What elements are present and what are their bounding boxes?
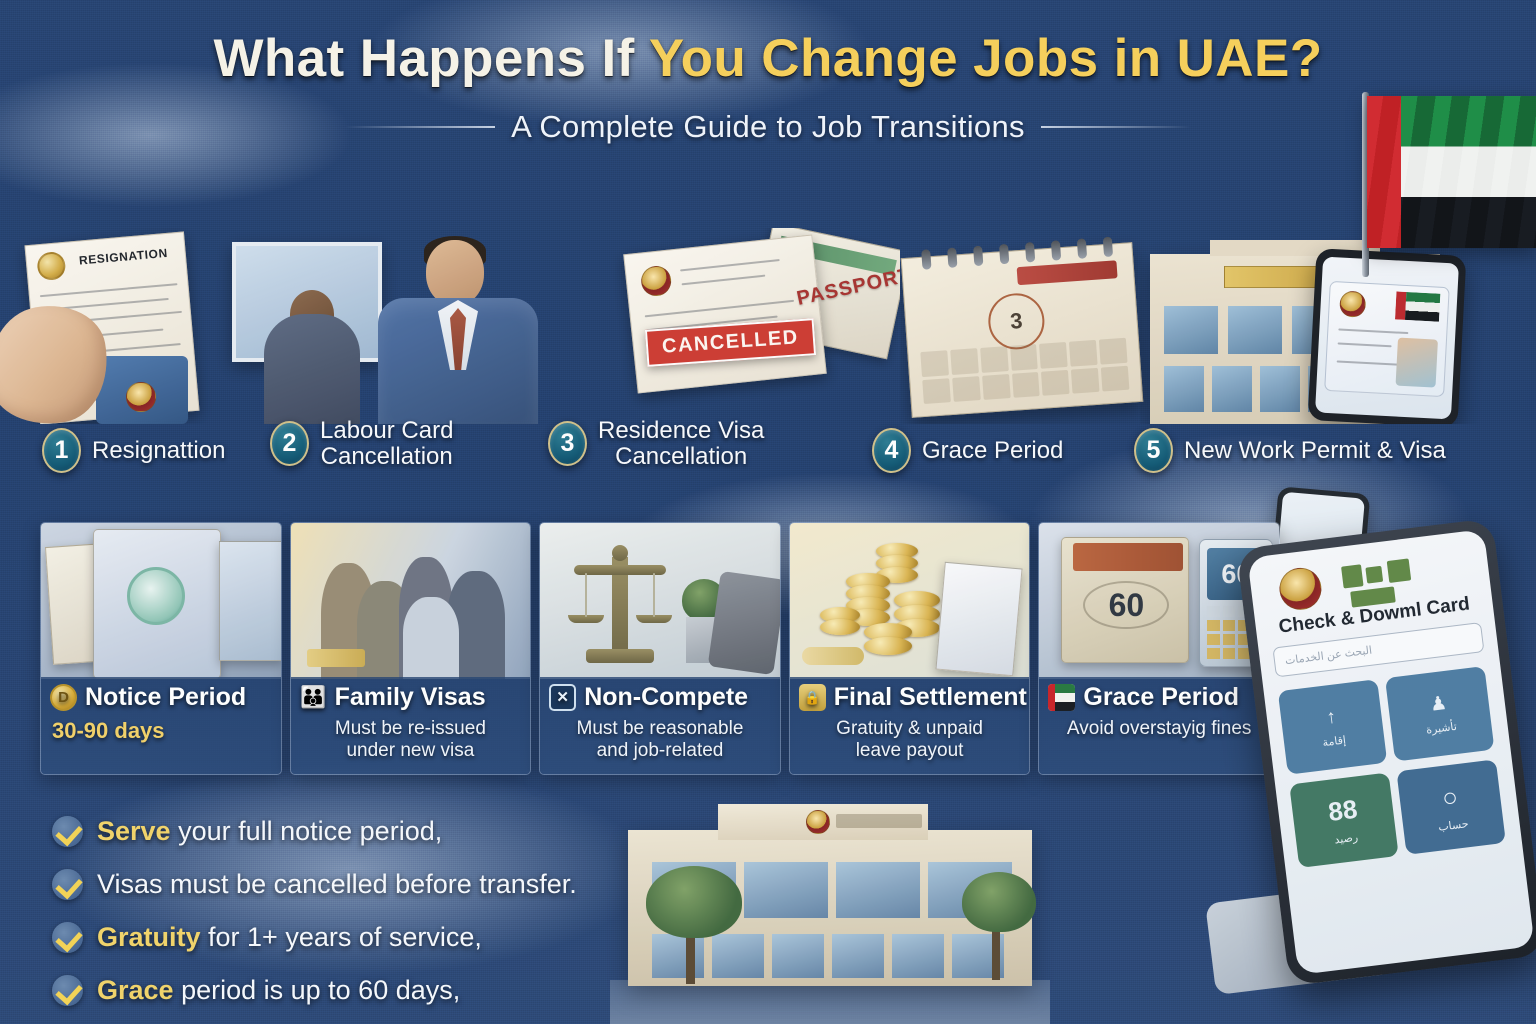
step-number-badge: 4 <box>872 428 911 473</box>
labour-card-document <box>623 234 827 393</box>
art-label-chip <box>307 649 365 667</box>
flag-icon <box>1048 684 1075 711</box>
card-caption: 🔒 Final Settlement Gratuity & unpaid lea… <box>790 677 1030 774</box>
family-icon: 👪 <box>300 684 327 711</box>
uae-emblem-icon <box>1339 290 1366 317</box>
step-label: New Work Permit & Visa <box>1184 438 1446 464</box>
card-final-settlement[interactable]: 🔒 Final Settlement Gratuity & unpaid lea… <box>789 522 1031 775</box>
phone-screen[interactable]: Check & Dowml Card البحث عن الخدمات ↑ إق… <box>1247 529 1534 975</box>
check-icon <box>52 869 83 900</box>
key-takeaways-list: Serve your full notice period, Visas mus… <box>52 816 577 1024</box>
step-number-badge: 2 <box>270 421 309 466</box>
ground <box>610 980 1050 1024</box>
step-2-labour-card-cancellation[interactable]: 2 Labour Card Cancellation <box>270 418 453 470</box>
card-art-coins <box>790 523 1030 679</box>
emblem-circle-icon <box>127 567 185 625</box>
phone-body: Check & Dowml Card البحث عن الخدمات ↑ إق… <box>1236 518 1536 986</box>
tree <box>646 866 742 938</box>
card-non-compete[interactable]: ✕ Non-Compete Must be reasonable and job… <box>539 522 781 775</box>
lock-icon: 🔒 <box>799 684 826 711</box>
checklist-item: Serve your full notice period, <box>52 816 577 847</box>
checklist-item: Grace period is up to 60 days, <box>52 975 577 1006</box>
tile-label: إقامة <box>1322 733 1347 749</box>
page-header: What Happens If You Change Jobs in UAE? … <box>0 28 1536 145</box>
scene-cancelled-documents: PASSPORT CANCELLED <box>600 228 900 424</box>
step-number-badge: 5 <box>1134 428 1173 473</box>
checklist-text: Serve your full notice period, <box>97 816 442 847</box>
step-label: Residence Visa Cancellation <box>598 418 764 470</box>
tile-glyph: 88 <box>1327 794 1359 828</box>
step-number-badge: 1 <box>42 428 81 473</box>
step-label: Resignattion <box>92 438 225 464</box>
chair <box>708 571 780 675</box>
uae-emblem-icon <box>640 265 673 298</box>
tile-glyph: ○ <box>1440 781 1459 814</box>
uae-flag-icon <box>1395 291 1440 321</box>
check-icon <box>52 816 83 847</box>
card-art-scales <box>540 523 780 679</box>
steps-row: 1 Resignattion 2 Labour Card Cancellatio… <box>0 418 1536 488</box>
tree <box>962 872 1036 932</box>
subtitle-row: A Complete Guide to Job Transitions <box>0 109 1536 145</box>
info-cards-row: D Notice Period 30-90 days 👪 Family Visa… <box>40 522 1280 775</box>
page-title: What Happens If You Change Jobs in UAE? <box>0 28 1536 89</box>
search-placeholder: البحث عن الخدمات <box>1284 644 1372 668</box>
id-card <box>96 356 188 424</box>
calendar-grid <box>920 338 1129 404</box>
app-tile-4[interactable]: ○ حساب <box>1396 759 1505 855</box>
checklist-text: Visas must be cancelled before transfer. <box>97 869 577 900</box>
checklist-item: Visas must be cancelled before transfer. <box>52 869 577 900</box>
checklist-highlight: Grace <box>97 975 174 1005</box>
scene-calendar: 3 <box>900 228 1150 424</box>
calendar-day-number: 3 <box>986 291 1046 351</box>
businessman-head <box>426 240 484 306</box>
card-title-row: 🔒 Final Settlement <box>799 684 1021 711</box>
ministry-signboard <box>836 814 922 828</box>
uae-emblem-icon <box>126 382 156 412</box>
title-part-gold: You Change Jobs in UAE? <box>649 29 1323 88</box>
checklist-rest: Visas must be cancelled before transfer. <box>97 869 577 899</box>
check-icon <box>52 922 83 953</box>
page-subtitle: A Complete Guide to Job Transitions <box>511 109 1025 145</box>
card-title: Notice Period <box>85 685 246 710</box>
app-tile-2[interactable]: ♟ تأشيرة <box>1385 666 1494 762</box>
doc-header-band <box>1073 543 1183 571</box>
tile-label: تأشيرة <box>1425 720 1457 737</box>
card-title-row: 👪 Family Visas <box>300 684 522 711</box>
step-1-resignation[interactable]: 1 Resignattion <box>42 428 225 473</box>
card-title-row: D Notice Period <box>50 684 272 711</box>
process-illustration-strip: RESIGNATION <box>0 228 1536 424</box>
gold-seal-icon <box>36 251 66 281</box>
title-part-white: What Happens If <box>213 29 648 88</box>
app-tile-3[interactable]: 88 رصيد <box>1289 772 1398 868</box>
art-label-chip <box>802 647 864 665</box>
uae-emblem-icon <box>806 810 830 834</box>
checklist-rest: for 1+ years of service, <box>201 922 482 952</box>
subtitle-rule-left <box>345 126 495 128</box>
card-caption: ✕ Non-Compete Must be reasonable and job… <box>540 677 780 774</box>
checklist-highlight: Gratuity <box>97 922 201 952</box>
grace-days-number: 60 <box>1083 581 1169 629</box>
tile-glyph: ↑ <box>1325 706 1337 729</box>
tile-label: رصيد <box>1334 831 1359 847</box>
infographic-canvas: RESIGNATION <box>0 0 1536 1024</box>
card-subtitle: 30-90 days <box>52 718 272 744</box>
step-5-new-work-permit-visa[interactable]: 5 New Work Permit & Visa <box>1134 428 1446 473</box>
tile-label: حساب <box>1438 817 1470 834</box>
coin-icon: D <box>50 684 77 711</box>
checklist-rest: your full notice period, <box>171 816 443 846</box>
checklist-text: Gratuity for 1+ years of service, <box>97 922 482 953</box>
step-label: Grace Period <box>922 438 1063 464</box>
card-caption: D Notice Period 30-90 days <box>41 677 281 774</box>
checklist-text: Grace period is up to 60 days, <box>97 975 460 1006</box>
card-art-family <box>291 523 531 679</box>
phone-app-mockup[interactable]: Check & Dowml Card البحث عن الخدمات ↑ إق… <box>1236 518 1536 986</box>
ministry-building <box>610 792 1050 1024</box>
resignation-heading: RESIGNATION <box>78 246 168 268</box>
card-caption: 👪 Family Visas Must be re-issued under n… <box>291 677 531 774</box>
x-box-icon: ✕ <box>549 684 576 711</box>
card-title: Final Settlement <box>834 685 1027 710</box>
tile-glyph: ♟ <box>1429 692 1449 717</box>
step-4-grace-period[interactable]: 4 Grace Period <box>872 428 1063 473</box>
card-family-visas[interactable]: 👪 Family Visas Must be re-issued under n… <box>290 522 532 775</box>
digital-id-card <box>1324 281 1450 397</box>
card-title: Non-Compete <box>584 685 748 710</box>
card-title-row: ✕ Non-Compete <box>549 684 771 711</box>
card-subtitle: Gratuity & unpaid leave payout <box>799 718 1021 762</box>
card-title: Family Visas <box>335 685 486 710</box>
check-icon <box>52 975 83 1006</box>
checklist-rest: period is up to 60 days, <box>174 975 461 1005</box>
checklist-item: Gratuity for 1+ years of service, <box>52 922 577 953</box>
subtitle-rule-right <box>1041 126 1191 128</box>
step-3-residence-visa-cancellation[interactable]: 3 Residence Visa Cancellation <box>548 418 764 470</box>
checklist-highlight: Serve <box>97 816 171 846</box>
id-photo <box>1396 338 1438 388</box>
step-label: Labour Card Cancellation <box>320 418 453 470</box>
wall-calendar: 3 <box>901 242 1144 418</box>
uae-emblem-icon <box>1277 565 1324 612</box>
step-number-badge: 3 <box>548 421 587 466</box>
scene-businessman <box>330 228 590 424</box>
card-subtitle: Must be reasonable and job-related <box>549 718 771 762</box>
card-art-documents <box>41 523 281 679</box>
card-notice-period[interactable]: D Notice Period 30-90 days <box>40 522 282 775</box>
card-subtitle: Must be re-issued under new visa <box>300 718 522 762</box>
app-tile-1[interactable]: ↑ إقامة <box>1278 679 1387 775</box>
